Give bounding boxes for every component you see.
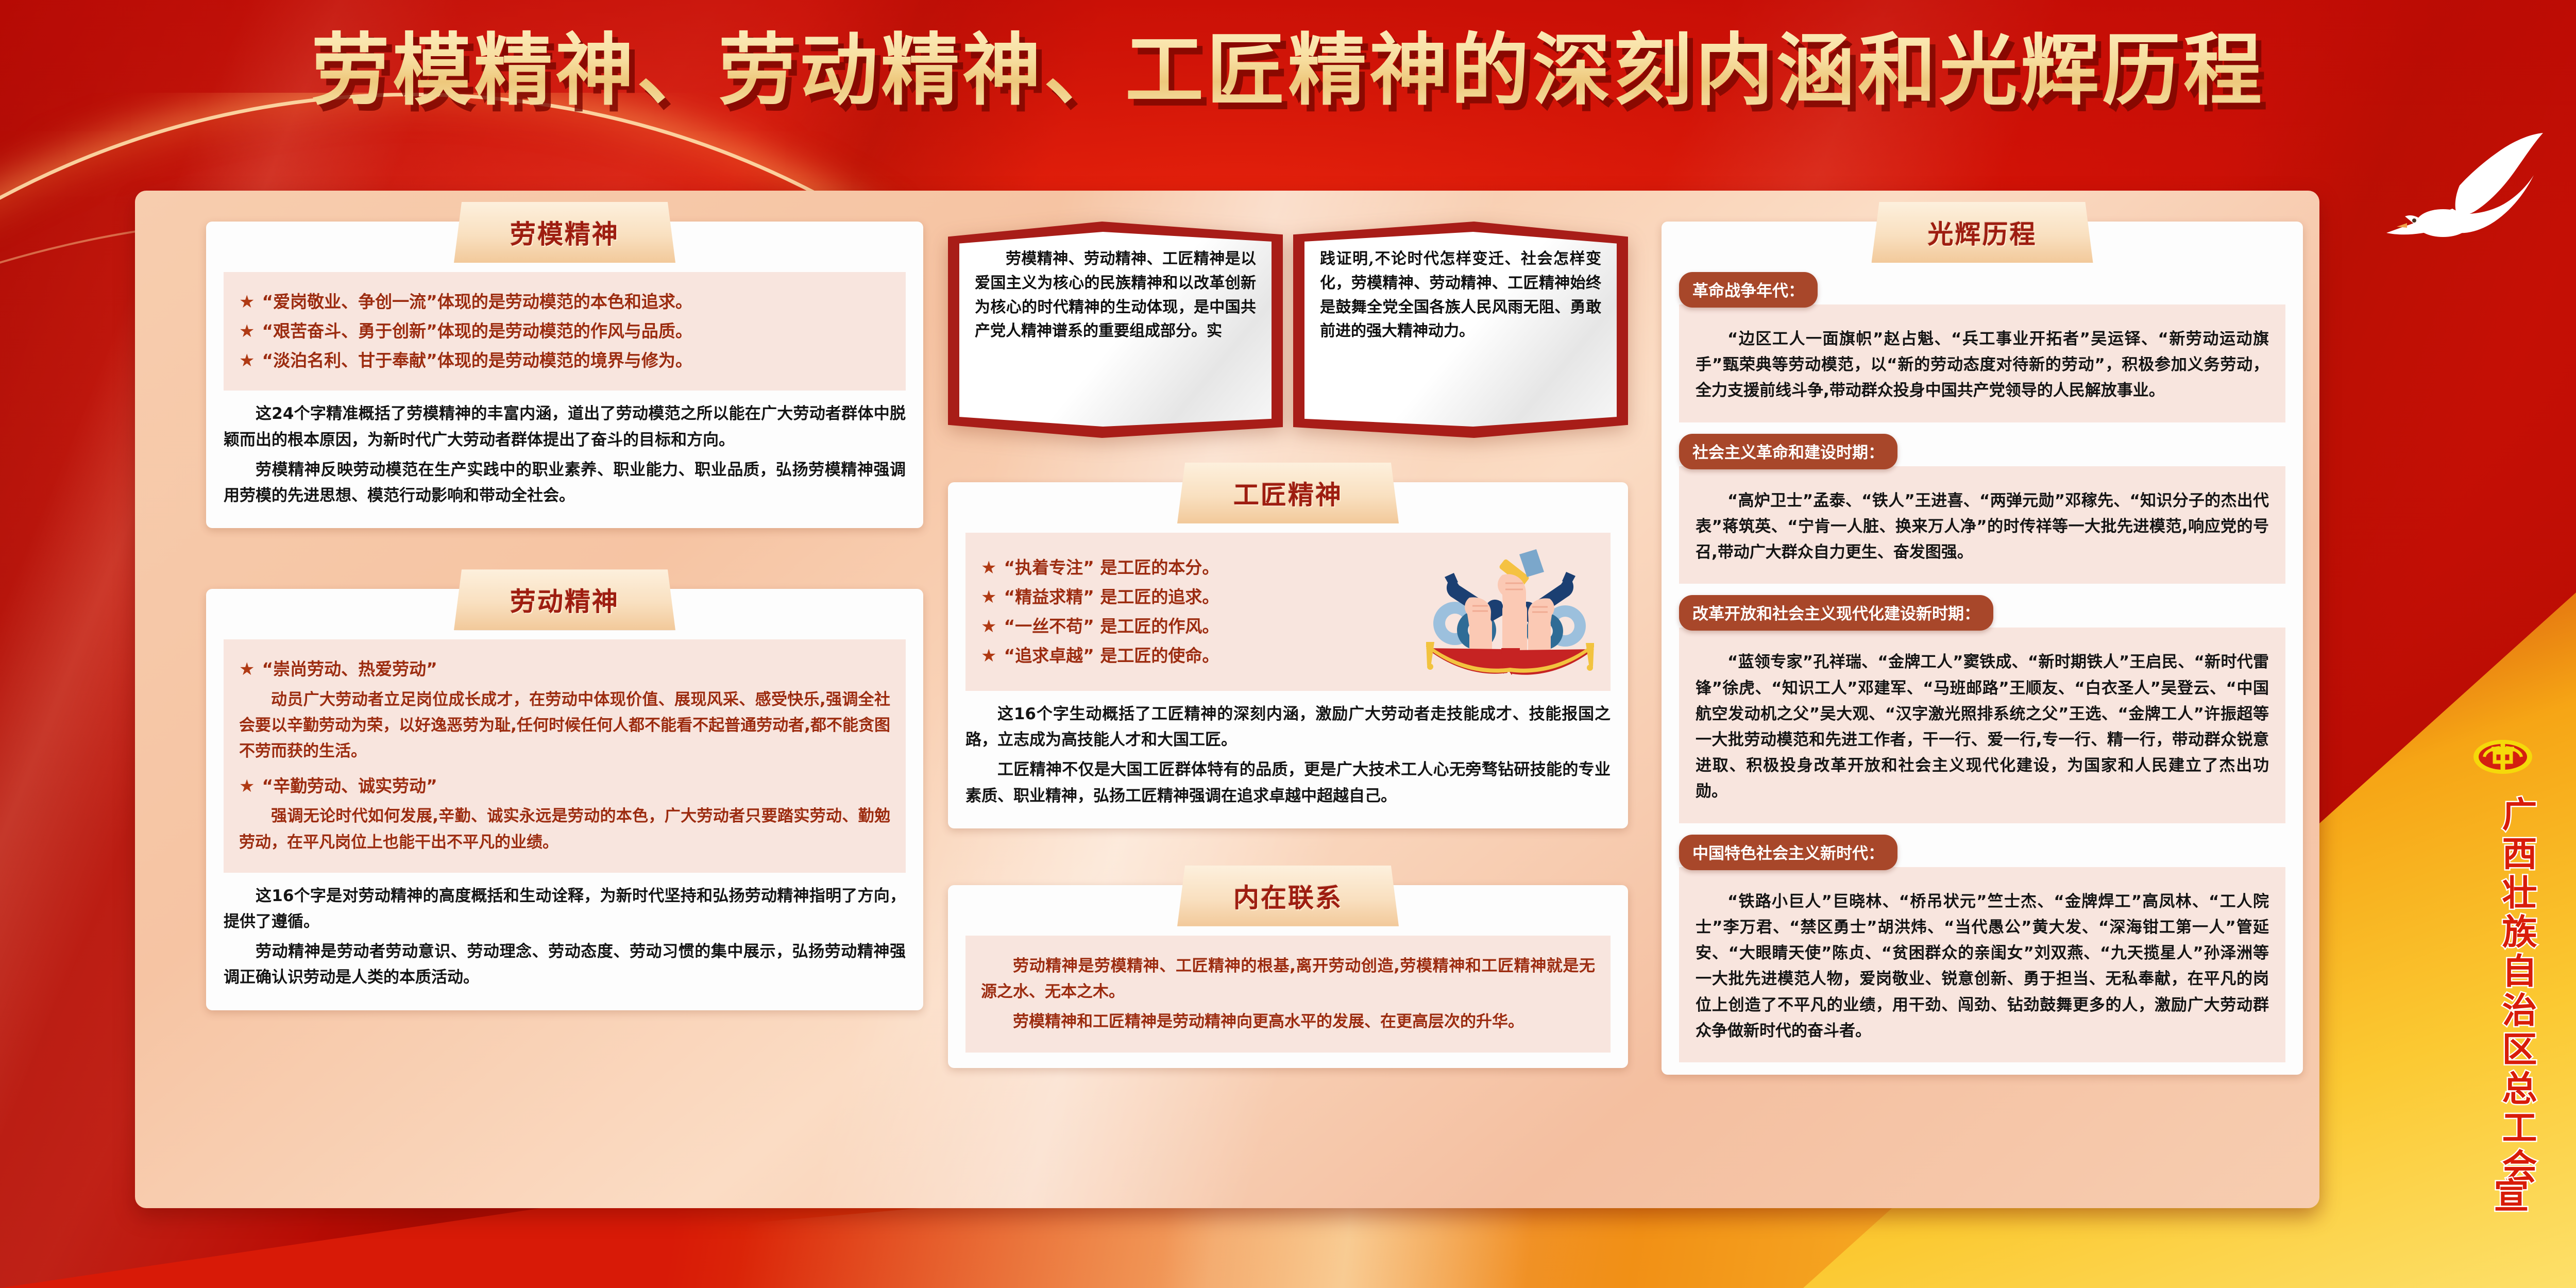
bullet-desc: 体现的是劳动模范的境界与修为。 xyxy=(437,350,692,370)
bullet-row: ★ “爱岗敬业、争创一流”体现的是劳动模范的本色和追求。 xyxy=(239,289,890,315)
era-body-block: “蓝领专家”孔祥瑞、“金牌工人”窦铁成、“新时期铁人”王启民、“新时代雷锋”徐虎… xyxy=(1679,628,2285,823)
era-item: 中国特色社会主义新时代： “铁路小巨人”巨晓林、“桥吊状元”竺士杰、“金牌焊工”… xyxy=(1679,835,2285,1062)
section-banner-labor-spirit: 劳动精神 xyxy=(454,569,675,630)
paragraph: 劳动精神是劳动者劳动意识、劳动理念、劳动态度、劳动习惯的集中展示，弘扬劳动精神强… xyxy=(224,939,906,990)
open-book-graphic: 劳模精神、劳动精神、工匠精神是以爱国主义为核心的民族精神和以改革创新为核心的时代… xyxy=(948,222,1628,438)
bullet-row: ★ “执着专注” 是工匠的本分。 xyxy=(981,555,1425,581)
bullet-text: “一丝不苟” 是工匠的作风。 xyxy=(1004,614,1219,639)
bullet-text: “精益求精” 是工匠的追求。 xyxy=(1004,584,1219,610)
section-heading-labor-model: 劳模精神 xyxy=(510,214,619,251)
star-icon: ★ xyxy=(981,588,996,606)
highlight-box-craftsman: ★ “执着专注” 是工匠的本分。 ★ “精益求精” 是工匠的追求。 ★ “一丝不… xyxy=(965,533,1611,691)
china-trade-union-emblem-icon xyxy=(2472,737,2534,777)
bullet-quote: “艰苦奋斗、勇于创新” xyxy=(262,318,437,344)
era-item: 社会主义革命和建设时期： “高炉卫士”孟泰、“铁人”王进喜、“两弹元勋”邓稼先、… xyxy=(1679,434,2285,584)
book-right-text: 践证明,不论时代怎样变迁、社会怎样变化，劳模精神、劳动精神、工匠精神始终是鼓舞全… xyxy=(1320,247,1601,344)
paragraph: 劳动精神是劳模精神、工匠精神的根基,离开劳动创造,劳模精神和工匠精神就是无源之水… xyxy=(981,953,1595,1005)
bullet-quote: “精益求精” xyxy=(1004,587,1094,607)
craftsman-row: ★ “执着专注” 是工匠的本分。 ★ “精益求精” 是工匠的追求。 ★ “一丝不… xyxy=(981,546,1595,677)
bullet-desc: 是工匠的追求。 xyxy=(1100,587,1219,607)
star-icon: ★ xyxy=(239,293,255,311)
era-item: 革命战争年代： “边区工人一面旗帜”赵占魁、“兵工事业开拓者”吴运铎、“新劳动运… xyxy=(1679,272,2285,422)
bullet-quote: “追求卓越” xyxy=(1004,646,1094,666)
highlight-box-labor-spirit: ★ “崇尚劳动、热爱劳动” 动员广大劳动者立足岗位成长成才，在劳动中体现价值、展… xyxy=(224,639,906,872)
paragraph: 这16个字生动概括了工匠精神的深刻内涵，激励广大劳动者走技能成才、技能报国之路，… xyxy=(965,701,1611,753)
bullet-quote: “淡泊名利、甘于奉献” xyxy=(262,348,437,374)
section-banner-craftsman: 工匠精神 xyxy=(1177,463,1399,523)
bullet-text: “淡泊名利、甘于奉献”体现的是劳动模范的境界与修为。 xyxy=(262,348,692,374)
star-icon: ★ xyxy=(239,352,255,369)
section-heading-glorious-history: 光辉历程 xyxy=(1928,214,2037,251)
section-banner-labor-model: 劳模精神 xyxy=(454,202,675,263)
bullet-quote: “崇尚劳动、热爱劳动” xyxy=(262,656,437,682)
bullet-desc: 体现的是劳动模范的本色和追求。 xyxy=(437,292,692,312)
bullet-row: ★ “艰苦奋斗、勇于创新”体现的是劳动模范的作风与品质。 xyxy=(239,318,890,344)
bullet-desc: 是工匠的本分。 xyxy=(1100,557,1219,578)
star-icon: ★ xyxy=(239,323,255,340)
era-tag-socialist-revolution: 社会主义革命和建设时期： xyxy=(1679,434,1897,469)
paragraph: 这16个字是对劳动精神的高度概括和生动诠释，为新时代坚持和弘扬劳动精神指明了方向… xyxy=(224,883,906,935)
star-icon: ★ xyxy=(981,559,996,577)
bullet-row: ★ “一丝不苟” 是工匠的作风。 xyxy=(981,614,1425,639)
card-body: ★ “执着专注” 是工匠的本分。 ★ “精益求精” 是工匠的追求。 ★ “一丝不… xyxy=(965,494,1611,809)
paragraph: 动员广大劳动者立足岗位成长成才，在劳动中体现价值、展现风采、感受快乐,强调全社会… xyxy=(239,687,890,765)
section-banner-glorious-history: 光辉历程 xyxy=(1872,202,2093,263)
era-tag-new-era: 中国特色社会主义新时代： xyxy=(1679,835,1897,870)
bullet-quote: “爱岗敬业、争创一流” xyxy=(262,289,437,315)
page-title: 劳模精神、劳动精神、工匠精神的深刻内涵和光辉历程 xyxy=(0,11,2576,129)
section-heading-relation: 内在联系 xyxy=(1233,877,1343,914)
bullet-row: ★ “辛勤劳动、诚实劳动” xyxy=(239,773,890,799)
publisher-vertical-text: 广西壮族自治区总工会 xyxy=(2473,796,2534,1188)
bullet-quote: “辛勤劳动、诚实劳动” xyxy=(262,773,437,799)
card-labor-spirit: 劳动精神 ★ “崇尚劳动、热爱劳动” 动员广大劳动者立足岗位成长成才，在劳动中体… xyxy=(206,589,923,1010)
section-banner-relation: 内在联系 xyxy=(1177,866,1399,926)
bullet-row: ★ “崇尚劳动、热爱劳动” xyxy=(239,656,890,682)
era-body-block: “铁路小巨人”巨晓林、“桥吊状元”竺士杰、“金牌焊工”高凤林、“工人院士”李万君… xyxy=(1679,867,2285,1062)
book-left-page: 劳模精神、劳动精神、工匠精神是以爱国主义为核心的民族精神和以改革创新为核心的时代… xyxy=(959,232,1272,427)
era-tag-reform-opening: 改革开放和社会主义现代化建设新时期： xyxy=(1679,595,1993,631)
bullet-text: “爱岗敬业、争创一流”体现的是劳动模范的本色和追求。 xyxy=(262,289,692,315)
right-column: 光辉历程 革命战争年代： “边区工人一面旗帜”赵占魁、“兵工事业开拓者”吴运铎、… xyxy=(1662,222,2303,1075)
era-body-block: “边区工人一面旗帜”赵占魁、“兵工事业开拓者”吴运铎、“新劳动运动旗手”甄荣典等… xyxy=(1679,304,2285,422)
craftsman-bullets: ★ “执着专注” 是工匠的本分。 ★ “精益求精” 是工匠的追求。 ★ “一丝不… xyxy=(981,551,1425,673)
bullet-text: “艰苦奋斗、勇于创新”体现的是劳动模范的作风与品质。 xyxy=(262,318,692,344)
bullet-text: “执着专注” 是工匠的本分。 xyxy=(1004,555,1219,581)
card-body: ★ “崇尚劳动、热爱劳动” 动员广大劳动者立足岗位成长成才，在劳动中体现价值、展… xyxy=(224,600,906,990)
publisher-strip: 广西壮族自治区总工会 宣 xyxy=(2442,0,2576,1288)
hands-holding-tools-icon xyxy=(1425,546,1595,677)
star-icon: ★ xyxy=(981,647,996,665)
paragraph: 劳模精神反映劳动模范在生产实践中的职业素养、职业能力、职业品质，弘扬劳模精神强调… xyxy=(224,457,906,509)
card-inner-relation: 内在联系 劳动精神是劳模精神、工匠精神的根基,离开劳动创造,劳模精神和工匠精神就… xyxy=(948,885,1628,1068)
bullet-text: “追求卓越” 是工匠的使命。 xyxy=(1004,643,1219,669)
card-body: ★ “爱岗敬业、争创一流”体现的是劳动模范的本色和追求。 ★ “艰苦奋斗、勇于创… xyxy=(224,233,906,509)
era-tag-revolutionary-war: 革命战争年代： xyxy=(1679,272,1818,308)
paragraph: “蓝领专家”孔祥瑞、“金牌工人”窦铁成、“新时期铁人”王启民、“新时代雷锋”徐虎… xyxy=(1696,649,2269,804)
book-right-half: 践证明,不论时代怎样变迁、社会怎样变化，劳模精神、劳动精神、工匠精神始终是鼓舞全… xyxy=(1293,222,1628,438)
bullet-desc: 是工匠的作风。 xyxy=(1100,616,1219,636)
bullet-row: ★ “精益求精” 是工匠的追求。 xyxy=(981,584,1425,610)
star-icon: ★ xyxy=(239,660,255,678)
book-left-text: 劳模精神、劳动精神、工匠精神是以爱国主义为核心的民族精神和以改革创新为核心的时代… xyxy=(975,247,1256,344)
book-left-half: 劳模精神、劳动精神、工匠精神是以爱国主义为核心的民族精神和以改革创新为核心的时代… xyxy=(948,222,1283,438)
paragraph: “边区工人一面旗帜”赵占魁、“兵工事业开拓者”吴运铎、“新劳动运动旗手”甄荣典等… xyxy=(1696,326,2269,404)
card-body: 革命战争年代： “边区工人一面旗帜”赵占魁、“兵工事业开拓者”吴运铎、“新劳动运… xyxy=(1679,233,2285,1062)
bullet-desc: 是工匠的使命。 xyxy=(1100,646,1219,666)
section-heading-craftsman: 工匠精神 xyxy=(1233,474,1343,512)
section-heading-labor-spirit: 劳动精神 xyxy=(510,581,619,618)
highlight-box-labor-model: ★ “爱岗敬业、争创一流”体现的是劳动模范的本色和追求。 ★ “艰苦奋斗、勇于创… xyxy=(224,272,906,391)
paragraph: “铁路小巨人”巨晓林、“桥吊状元”竺士杰、“金牌焊工”高凤林、“工人院士”李万君… xyxy=(1696,889,2269,1044)
left-column: 劳模精神 ★ “爱岗敬业、争创一流”体现的是劳动模范的本色和追求。 ★ “艰苦奋… xyxy=(206,222,923,1010)
publisher-suffix-text: 宣 xyxy=(2473,1177,2534,1212)
era-item: 改革开放和社会主义现代化建设新时期： “蓝领专家”孔祥瑞、“金牌工人”窦铁成、“… xyxy=(1679,595,2285,823)
bullet-quote: “执着专注” xyxy=(1004,557,1094,578)
paragraph: 强调无论时代如何发展,辛勤、诚实永远是劳动的本色，广大劳动者只要踏实劳动、勤勉劳… xyxy=(239,803,890,855)
highlight-box-relation: 劳动精神是劳模精神、工匠精神的根基,离开劳动创造,劳模精神和工匠精神就是无源之水… xyxy=(965,936,1611,1053)
bullet-row: ★ “追求卓越” 是工匠的使命。 xyxy=(981,643,1425,669)
paragraph: 这24个字精准概括了劳模精神的丰富内涵，道出了劳动模范之所以能在广大劳动者群体中… xyxy=(224,401,906,452)
bullet-desc: 体现的是劳动模范的作风与品质。 xyxy=(437,321,692,341)
book-right-page: 践证明,不论时代怎样变迁、社会怎样变化，劳模精神、劳动精神、工匠精神始终是鼓舞全… xyxy=(1304,232,1617,427)
card-craftsman-spirit: 工匠精神 ★ “执着专注” 是工匠的本分。 ★ “精益求精” 是工匠的追求。 xyxy=(948,482,1628,828)
card-labor-model-spirit: 劳模精神 ★ “爱岗敬业、争创一流”体现的是劳动模范的本色和追求。 ★ “艰苦奋… xyxy=(206,222,923,528)
middle-column: 劳模精神、劳动精神、工匠精神是以爱国主义为核心的民族精神和以改革创新为核心的时代… xyxy=(948,222,1628,1068)
star-icon: ★ xyxy=(239,777,255,795)
bullet-row: ★ “淡泊名利、甘于奉献”体现的是劳动模范的境界与修为。 xyxy=(239,348,890,374)
era-body-block: “高炉卫士”孟泰、“铁人”王进喜、“两弹元勋”邓稼先、“知识分子的杰出代表”蒋筑… xyxy=(1679,466,2285,584)
paragraph: “高炉卫士”孟泰、“铁人”王进喜、“两弹元勋”邓稼先、“知识分子的杰出代表”蒋筑… xyxy=(1696,488,2269,566)
card-glorious-history: 光辉历程 革命战争年代： “边区工人一面旗帜”赵占魁、“兵工事业开拓者”吴运铎、… xyxy=(1662,222,2303,1075)
poster-title-bar: 劳模精神、劳动精神、工匠精神的深刻内涵和光辉历程 xyxy=(0,11,2576,130)
star-icon: ★ xyxy=(981,618,996,635)
paragraph: 劳模精神和工匠精神是劳动精神向更高水平的发展、在更高层次的升华。 xyxy=(981,1009,1595,1035)
bullet-quote: “一丝不苟” xyxy=(1004,616,1094,636)
paragraph: 工匠精神不仅是大国工匠群体特有的品质，更是广大技术工人心无旁骛钻研技能的专业素质… xyxy=(965,757,1611,808)
